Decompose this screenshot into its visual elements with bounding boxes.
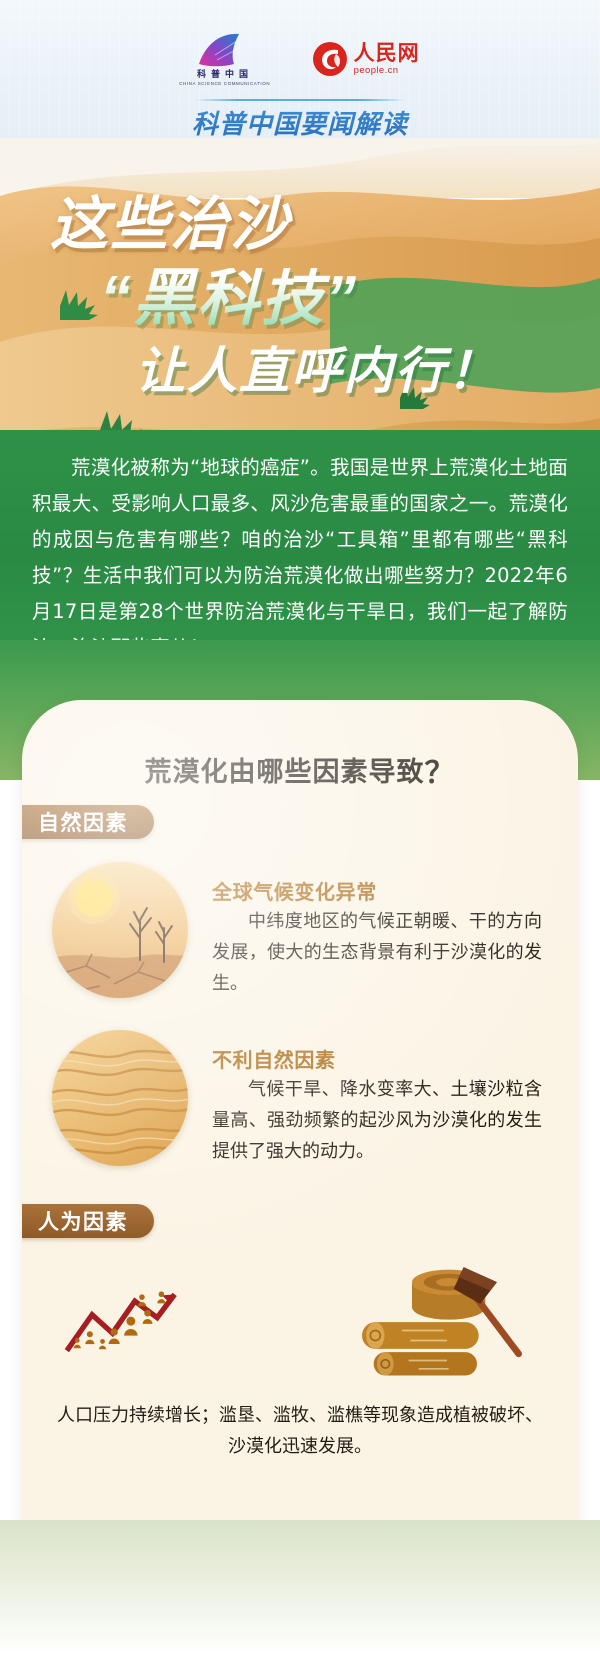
- page-footer-gradient: [0, 1520, 600, 1654]
- kepu-fan-icon: [189, 31, 261, 67]
- header-divider: [195, 99, 405, 101]
- card-heading: 荒漠化由哪些因素导致？: [22, 748, 578, 792]
- badge-human-factors: 人为因素: [22, 1204, 154, 1238]
- people-logo-cn: 人民网: [354, 43, 420, 64]
- human-factors-illustrations: [22, 1248, 578, 1398]
- sand-dunes-illustration: [52, 1030, 188, 1166]
- infographic-page: 科普中国 CHINA SCIENCE COMMUNICATION 人民网 peo…: [0, 0, 600, 1654]
- people-logo-en: people.cn: [354, 66, 420, 76]
- sun-dry-land-icon: [52, 862, 188, 998]
- logo-row: 科普中国 CHINA SCIENCE COMMUNICATION 人民网 peo…: [0, 30, 600, 88]
- logs-icon: [362, 1322, 479, 1375]
- kepu-logo-cn: 科普中国: [197, 70, 253, 79]
- natural-item-2-title: 不利自然因素: [212, 1044, 336, 1073]
- kepu-logo-en: CHINA SCIENCE COMMUNICATION: [179, 82, 270, 86]
- card-heading-mark: ？: [425, 757, 456, 790]
- human-factors-caption: 人口压力持续增长；滥垦、滥牧、滥樵等现象造成植被破坏、沙漠化迅速发展。: [52, 1400, 548, 1462]
- header-subtitle: 科普中国要闻解读: [0, 104, 600, 141]
- people-swirl-icon: [312, 41, 348, 77]
- card-heading-text: 荒漠化由哪些因素导致: [145, 757, 425, 787]
- badge-human-label: 人为因素: [38, 1206, 128, 1236]
- natural-item-1-body: 中纬度地区的气候正朝暖、干的方向发展，使大的生态背景有利于沙漠化的发生。: [212, 906, 542, 999]
- sand-dunes-icon: [52, 1030, 188, 1166]
- natural-item-2-body: 气候干旱、降水变率大、土壤沙粒含量高、强劲频繁的起沙风为沙漠化的发生提供了强大的…: [212, 1074, 542, 1167]
- kepu-china-logo: 科普中国 CHINA SCIENCE COMMUNICATION: [180, 31, 269, 86]
- page-header: 科普中国 CHINA SCIENCE COMMUNICATION 人民网 peo…: [0, 0, 600, 150]
- intro-paragraph: 荒漠化被称为“地球的癌症”。我国是世界上荒漠化土地面积最大、受影响人口最多、风沙…: [32, 450, 568, 666]
- badge-natural-factors: 自然因素: [22, 805, 154, 839]
- hero-title-line2: “黑科技”: [100, 268, 358, 330]
- causes-card: 荒漠化由哪些因素导致？ 自然因素: [22, 700, 578, 1536]
- hero-title-line1: 这些治沙: [50, 196, 290, 254]
- population-growth-chart-icon: [62, 1248, 332, 1398]
- logging-axe-icon: [342, 1248, 542, 1398]
- natural-item-1-title: 全球气候变化异常: [212, 876, 377, 905]
- people-cn-logo: 人民网 people.cn: [312, 41, 420, 77]
- hero-title-line3: 让人直呼内行！: [135, 346, 499, 396]
- badge-natural-label: 自然因素: [38, 807, 128, 837]
- sun-dry-land-illustration: [52, 862, 188, 998]
